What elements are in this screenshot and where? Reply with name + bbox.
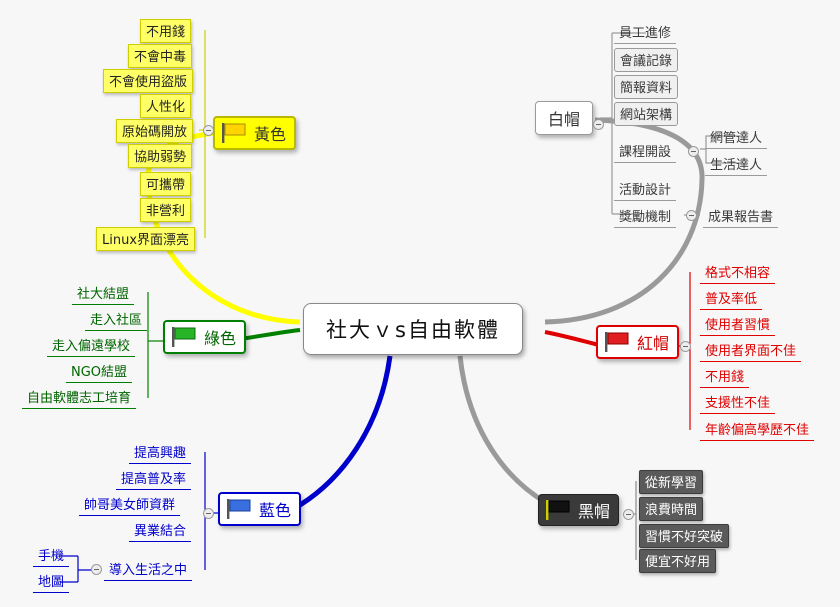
leaf-blue-2[interactable]: 提高普及率 bbox=[116, 467, 191, 490]
branch-black-node[interactable]: 黑帽 bbox=[538, 494, 619, 526]
leaf-red-5[interactable]: 不用錢 bbox=[700, 365, 749, 388]
red-flag-icon bbox=[602, 330, 632, 354]
branch-green-node[interactable]: 綠色 bbox=[163, 320, 246, 354]
black-label: 黑帽 bbox=[578, 498, 610, 522]
central-topic[interactable]: 社大ｖs自由軟體 bbox=[303, 303, 523, 355]
leaf-yellow-7[interactable]: 可攜帶 bbox=[140, 172, 191, 196]
toggle-course-setup[interactable] bbox=[688, 146, 699, 157]
branch-green[interactable]: 綠色 bbox=[163, 320, 246, 354]
leaf-black-2[interactable]: 浪費時間 bbox=[639, 497, 703, 521]
leaf-yellow-6[interactable]: 協助弱勢 bbox=[128, 144, 192, 168]
yellow-flag-icon bbox=[219, 121, 249, 145]
red-label: 紅帽 bbox=[637, 330, 669, 354]
toggle-reward-system[interactable] bbox=[686, 210, 697, 221]
leaf-blue-5[interactable]: 導入生活之中 bbox=[104, 558, 192, 581]
branch-black[interactable]: 黑帽 bbox=[538, 494, 619, 526]
leaf-yellow-3[interactable]: 不會使用盜版 bbox=[103, 69, 193, 93]
leaf-red-1[interactable]: 格式不相容 bbox=[700, 261, 775, 284]
leaf-white-5-1[interactable]: 網管達人 bbox=[705, 126, 767, 149]
leaf-blue-3[interactable]: 帥哥美女師資群 bbox=[79, 493, 180, 516]
leaf-green-4[interactable]: NGO結盟 bbox=[66, 360, 132, 383]
leaf-white-5-2[interactable]: 生活達人 bbox=[705, 153, 767, 176]
leaf-green-2[interactable]: 走入社區 bbox=[85, 308, 147, 331]
green-flag-icon bbox=[169, 325, 199, 349]
toggle-blue[interactable] bbox=[203, 508, 214, 519]
branch-yellow[interactable]: 黃色 bbox=[213, 116, 296, 150]
leaf-green-5[interactable]: 自由軟體志工培育 bbox=[22, 386, 136, 409]
branch-red-node[interactable]: 紅帽 bbox=[596, 325, 679, 359]
leaf-blue-5-2[interactable]: 地圖 bbox=[33, 570, 69, 593]
branch-blue-node[interactable]: 藍色 bbox=[218, 492, 301, 526]
leaf-blue-4[interactable]: 異業結合 bbox=[129, 519, 191, 542]
branch-white-hat-node[interactable]: 白帽 bbox=[535, 101, 593, 135]
leaf-yellow-4[interactable]: 人性化 bbox=[140, 94, 191, 118]
leaf-white-1[interactable]: 員工進修 bbox=[614, 21, 676, 44]
leaf-white-4[interactable]: 網站架構 bbox=[614, 102, 678, 126]
toggle-black[interactable] bbox=[623, 509, 634, 520]
black-flag-icon bbox=[543, 498, 573, 522]
leaf-white-3[interactable]: 簡報資料 bbox=[614, 75, 678, 99]
toggle-yellow[interactable] bbox=[203, 125, 214, 136]
green-label: 綠色 bbox=[204, 325, 236, 349]
leaf-green-3[interactable]: 走入偏遠學校 bbox=[47, 334, 135, 357]
blue-flag-icon bbox=[224, 497, 254, 521]
leaf-yellow-5[interactable]: 原始碼開放 bbox=[116, 119, 193, 143]
mindmap-canvas: 社大ｖs自由軟體 白帽 員工進修 會議記錄 簡報資料 網站架構 課程開設 網管達… bbox=[0, 0, 840, 607]
leaf-red-7[interactable]: 年齡偏高學歷不佳 bbox=[700, 418, 814, 441]
leaf-red-3[interactable]: 使用者習慣 bbox=[700, 313, 775, 336]
branch-yellow-node[interactable]: 黃色 bbox=[213, 116, 296, 150]
leaf-green-1[interactable]: 社大結盟 bbox=[72, 282, 134, 305]
leaf-blue-1[interactable]: 提高興趣 bbox=[129, 441, 191, 464]
branch-blue[interactable]: 藍色 bbox=[218, 492, 301, 526]
toggle-red[interactable] bbox=[680, 341, 691, 352]
leaf-red-6[interactable]: 支援性不佳 bbox=[700, 391, 775, 414]
leaf-white-6[interactable]: 活動設計 bbox=[614, 178, 676, 201]
leaf-black-4[interactable]: 便宜不好用 bbox=[639, 549, 716, 573]
branch-white-hat[interactable]: 白帽 bbox=[535, 101, 593, 135]
leaf-black-3[interactable]: 習慣不好突破 bbox=[639, 524, 729, 548]
leaf-blue-5-1[interactable]: 手機 bbox=[33, 544, 69, 567]
toggle-white-hat[interactable] bbox=[593, 119, 604, 130]
leaf-white-7[interactable]: 獎勵機制 bbox=[614, 205, 676, 228]
white-hat-label: 白帽 bbox=[548, 106, 580, 130]
leaf-yellow-2[interactable]: 不會中毒 bbox=[128, 44, 192, 68]
leaf-black-1[interactable]: 從新學習 bbox=[639, 470, 703, 494]
toggle-into-life[interactable] bbox=[91, 564, 102, 575]
leaf-white-5[interactable]: 課程開設 bbox=[614, 140, 676, 163]
leaf-white-2[interactable]: 會議記錄 bbox=[614, 48, 678, 72]
leaf-yellow-1[interactable]: 不用錢 bbox=[140, 19, 191, 43]
yellow-label: 黃色 bbox=[254, 121, 286, 145]
leaf-red-4[interactable]: 使用者界面不佳 bbox=[700, 339, 801, 362]
branch-red[interactable]: 紅帽 bbox=[596, 325, 679, 359]
leaf-red-2[interactable]: 普及率低 bbox=[700, 287, 762, 310]
leaf-yellow-9[interactable]: Linux界面漂亮 bbox=[96, 227, 195, 251]
leaf-yellow-8[interactable]: 非營利 bbox=[140, 198, 191, 222]
blue-label: 藍色 bbox=[259, 497, 291, 521]
leaf-white-7-1[interactable]: 成果報告書 bbox=[703, 205, 778, 228]
